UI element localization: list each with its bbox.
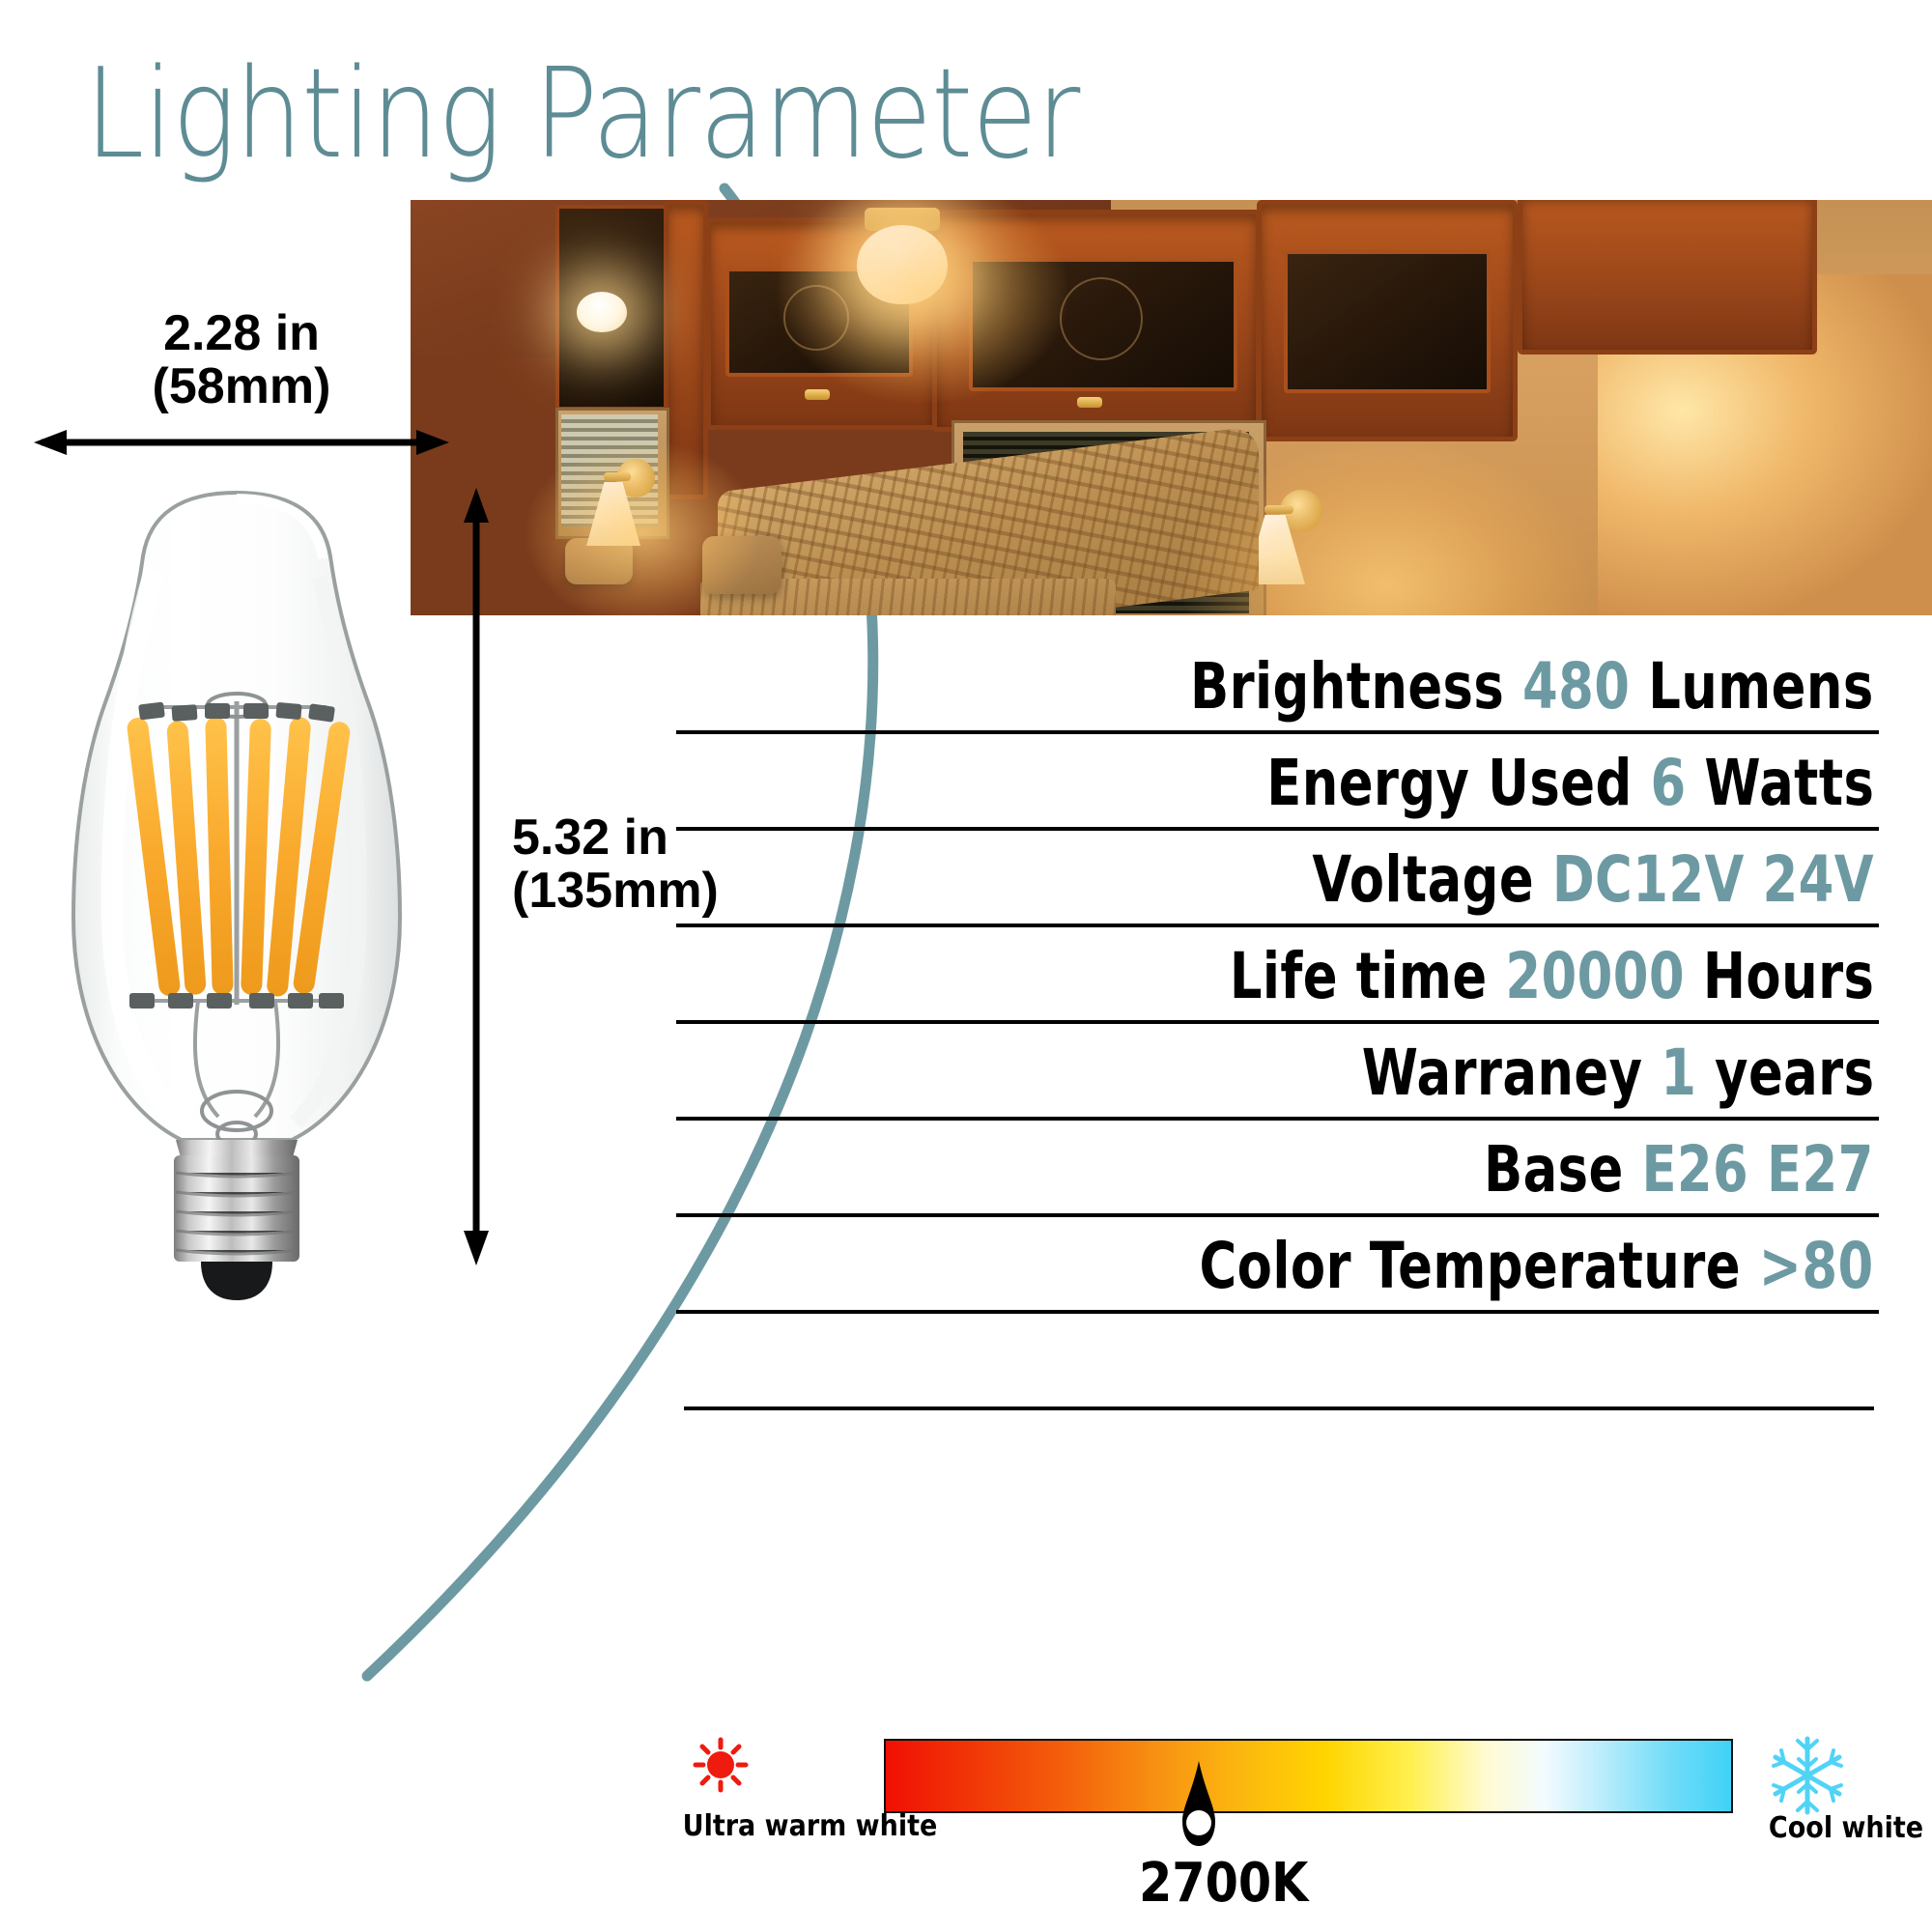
spec-unit-energy-used: Watts bbox=[1704, 746, 1874, 820]
spec-label-warranty: Warraney bbox=[1361, 1036, 1642, 1110]
spec-row-warm-white bbox=[676, 1314, 1932, 1410]
spec-value-energy-used: 6 bbox=[1650, 746, 1686, 820]
color-temperature-right-label: Cool white bbox=[1769, 1811, 1923, 1845]
e26-screw-base bbox=[174, 1140, 299, 1300]
st64-edison-led-bulb bbox=[29, 464, 444, 1304]
spec-label-color-temperature: Color Temperature bbox=[1200, 1229, 1741, 1303]
spec-unit-life-time: Hours bbox=[1702, 939, 1874, 1013]
spec-row-color-temperature: Color Temperature >80 bbox=[676, 1217, 1932, 1314]
spec-row-brightness: Brightness 480 Lumens bbox=[676, 638, 1932, 734]
color-temperature-gradient-bar[interactable] bbox=[884, 1739, 1733, 1813]
color-temperature-scale: Ultra warm white 2700K bbox=[676, 1734, 1932, 1932]
width-dimension-label: 2.28 in (58mm) bbox=[29, 307, 454, 413]
spec-unit-warranty: years bbox=[1715, 1036, 1874, 1110]
spec-value-color-temperature: >80 bbox=[1759, 1229, 1874, 1303]
width-arrow bbox=[34, 430, 449, 455]
color-temperature-value: 2700K bbox=[1139, 1852, 1266, 1915]
spec-label-base: Base bbox=[1484, 1132, 1624, 1207]
spec-label-voltage: Voltage bbox=[1312, 842, 1534, 917]
width-dimension-inches: 2.28 in bbox=[29, 307, 454, 360]
infographic-root: Lighting Parameter bbox=[0, 0, 1932, 1932]
width-dimension-mm: (58mm) bbox=[29, 360, 454, 413]
spec-row-warranty: Warraney 1 years bbox=[676, 1024, 1932, 1121]
spec-value-voltage: DC12V 24V bbox=[1552, 842, 1874, 917]
rv-interior-photo bbox=[411, 200, 1932, 615]
height-arrow bbox=[462, 488, 491, 1265]
spec-label-brightness: Brightness bbox=[1190, 649, 1504, 724]
spec-unit-brightness: Lumens bbox=[1649, 649, 1874, 724]
page-title: Lighting Parameter bbox=[85, 53, 1080, 177]
color-temperature-left-label: Ultra warm white bbox=[683, 1809, 938, 1843]
spec-value-warranty: 1 bbox=[1661, 1036, 1696, 1110]
spec-row-base: Base E26 E27 bbox=[676, 1121, 1932, 1217]
spec-row-voltage: Voltage DC12V 24V bbox=[676, 831, 1932, 927]
ceiling-dome-light bbox=[857, 225, 948, 304]
spec-label-life-time: Life time bbox=[1230, 939, 1488, 1013]
spec-row-life-time: Life time 20000 Hours bbox=[676, 927, 1932, 1024]
spec-value-brightness: 480 bbox=[1522, 649, 1630, 724]
spec-label-energy-used: Energy Used bbox=[1266, 746, 1632, 820]
sun-icon bbox=[684, 1736, 757, 1809]
spec-value-life-time: 20000 bbox=[1505, 939, 1685, 1013]
spec-divider bbox=[684, 1406, 1874, 1410]
spec-row-energy-used: Energy Used 6 Watts bbox=[676, 734, 1932, 831]
spec-list: Brightness 480 Lumens Energy Used 6 Watt… bbox=[676, 638, 1932, 1410]
spec-value-base: E26 E27 bbox=[1642, 1132, 1874, 1207]
color-temperature-marker[interactable] bbox=[1175, 1761, 1223, 1850]
snowflake-icon bbox=[1766, 1734, 1849, 1817]
